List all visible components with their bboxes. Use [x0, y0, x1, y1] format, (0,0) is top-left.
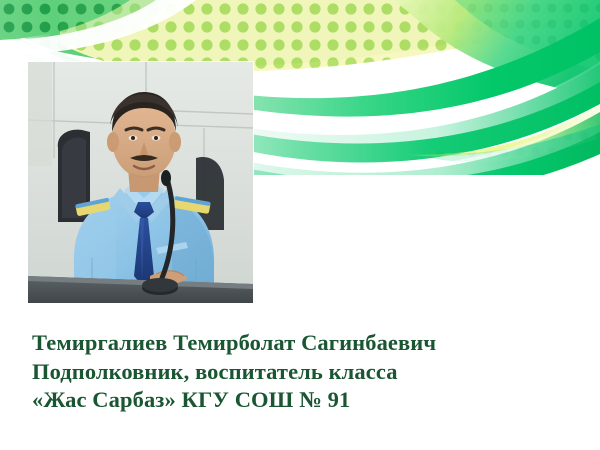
- portrait-photo-image: [28, 62, 253, 303]
- caption-line-2: Подполковник, воспитатель класса: [32, 358, 572, 387]
- caption-line-3: «Жас Сарбаз» КГУ СОШ № 91: [32, 386, 572, 415]
- caption-line-1: Темиргалиев Темирболат Сагинбаевич: [32, 329, 572, 358]
- portrait-photo: [28, 62, 253, 303]
- presentation-slide: Темиргалиев Темирболат Сагинбаевич Подпо…: [0, 0, 600, 450]
- caption-block: Темиргалиев Темирболат Сагинбаевич Подпо…: [32, 329, 572, 415]
